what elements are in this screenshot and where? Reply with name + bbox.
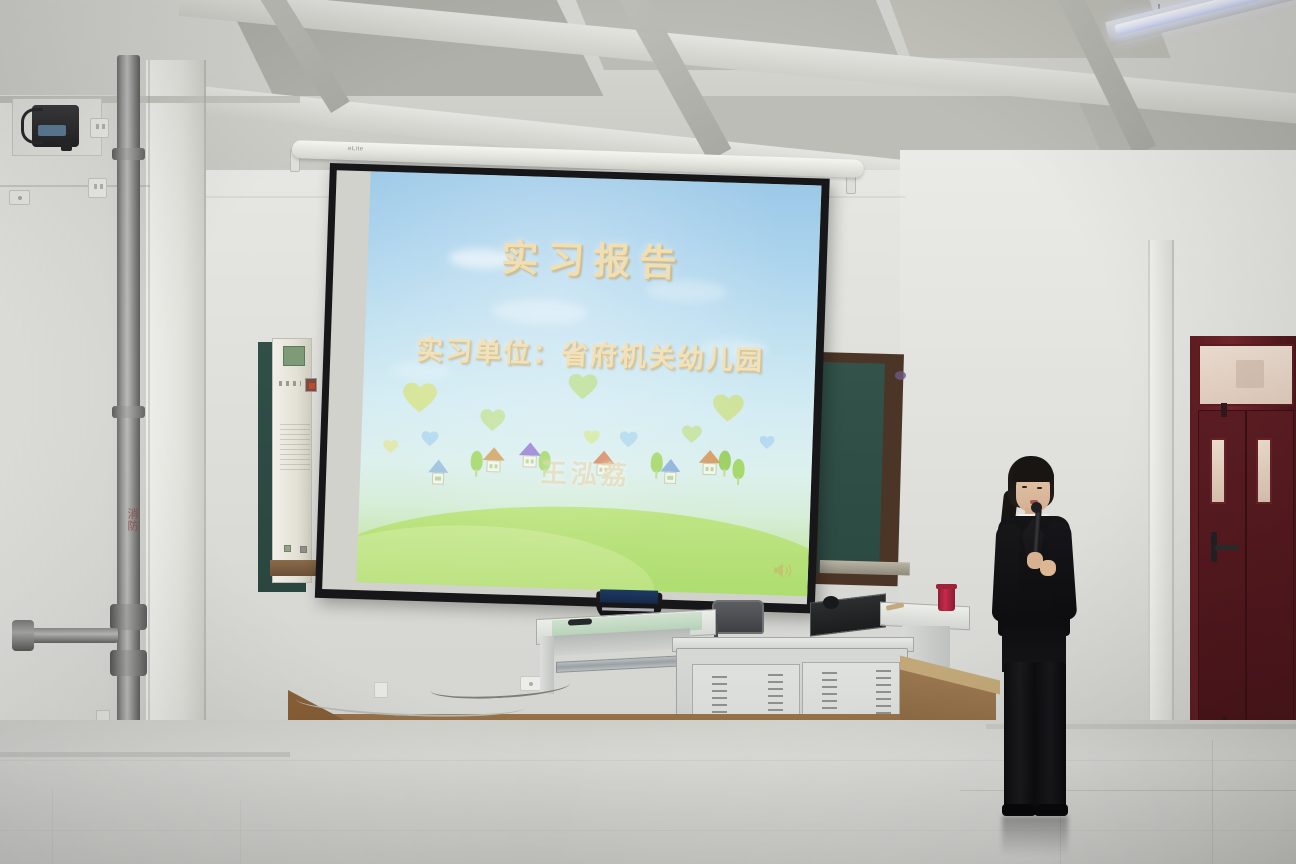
pipe-label: 消防 bbox=[119, 508, 137, 532]
floor-tile-line bbox=[1212, 740, 1213, 864]
heart-decor bbox=[759, 436, 775, 455]
lid-knob[interactable] bbox=[823, 596, 839, 609]
baseboard bbox=[0, 752, 290, 757]
hair-fringe bbox=[1012, 464, 1054, 482]
wall-seam bbox=[148, 60, 150, 790]
cabinet-base-trim bbox=[270, 560, 316, 576]
cabinet-emergency-button[interactable] bbox=[305, 378, 317, 392]
chalkboard-chalk-rail bbox=[820, 560, 910, 576]
arm-left bbox=[991, 523, 1020, 622]
heart-decor bbox=[712, 394, 744, 428]
cabinet-indicator-lights bbox=[279, 381, 301, 386]
wall-seam bbox=[1148, 240, 1150, 740]
wall-mark bbox=[895, 371, 906, 380]
wall-jack[interactable] bbox=[9, 190, 30, 205]
shoe-right bbox=[1034, 804, 1068, 816]
heart-decor bbox=[568, 374, 598, 406]
eye bbox=[1022, 486, 1027, 488]
wall-pillar bbox=[146, 60, 206, 790]
eye bbox=[1037, 487, 1042, 489]
wall-device-plug bbox=[61, 140, 72, 151]
floor-tile-line bbox=[0, 760, 1296, 761]
mesh-office-chair[interactable] bbox=[712, 600, 764, 634]
screen-brand-label: eLite bbox=[348, 146, 364, 153]
floor-tile-line bbox=[0, 830, 1296, 831]
door-vision-panel bbox=[1256, 438, 1272, 504]
heart-decor bbox=[402, 382, 437, 419]
right-wall-corner bbox=[1148, 240, 1174, 740]
speaker-icon[interactable] bbox=[772, 561, 795, 580]
red-tumbler-cup[interactable] bbox=[938, 587, 955, 611]
shoe-left bbox=[1002, 804, 1036, 816]
wall-device-cable bbox=[21, 108, 43, 144]
projection-screen[interactable]: 实习报告 实习单位：省府机关幼儿园 王泓荔 bbox=[315, 163, 830, 613]
pipe-collar bbox=[112, 406, 145, 418]
wall-seam bbox=[1172, 240, 1174, 740]
power-outlet[interactable] bbox=[90, 118, 109, 138]
heart-decor bbox=[480, 409, 506, 437]
microphone-head bbox=[1031, 502, 1042, 513]
trouser-leg-right bbox=[1034, 662, 1066, 810]
heart-decor bbox=[583, 430, 600, 450]
pipe-collar bbox=[112, 148, 145, 160]
cup-lid bbox=[936, 584, 957, 589]
cabinet-display bbox=[283, 346, 305, 366]
cloud-decor bbox=[492, 298, 589, 325]
slide-title: 实习报告 bbox=[367, 223, 820, 291]
door-handle[interactable] bbox=[1215, 545, 1239, 550]
pipe-joint bbox=[110, 604, 147, 630]
trouser-leg-left bbox=[1004, 662, 1036, 810]
classroom-scene: 消防 eLite bbox=[0, 0, 1296, 864]
tiled-floor bbox=[0, 720, 1296, 864]
heart-decor bbox=[681, 425, 702, 449]
screen-fabric: 实习报告 实习单位：省府机关幼儿园 王泓荔 bbox=[322, 170, 821, 604]
cabinet-instruction-label bbox=[280, 424, 310, 474]
heart-decor bbox=[619, 431, 638, 453]
monitor-display bbox=[600, 589, 658, 604]
presentation-slide: 实习报告 实习单位：省府机关幼儿园 王泓荔 bbox=[356, 171, 821, 596]
floor-tile-line bbox=[240, 800, 241, 864]
wall-seam bbox=[204, 60, 206, 790]
pipe-joint bbox=[110, 650, 147, 676]
cabinet-button[interactable] bbox=[284, 545, 291, 552]
presenter bbox=[978, 456, 1088, 836]
door-vision-panel bbox=[1210, 438, 1226, 504]
floor-reflection-person bbox=[1002, 816, 1068, 856]
transom-sign bbox=[1236, 360, 1264, 388]
hand-right bbox=[1040, 560, 1056, 576]
door-top-latch bbox=[1221, 403, 1227, 417]
cabinet-button[interactable] bbox=[300, 546, 307, 553]
floor-tile-line bbox=[52, 790, 53, 864]
power-outlet[interactable] bbox=[88, 178, 107, 198]
pipe-branch bbox=[20, 628, 118, 643]
slide-author-name: 王泓荔 bbox=[360, 447, 812, 498]
pipe-end-cap bbox=[12, 620, 34, 651]
